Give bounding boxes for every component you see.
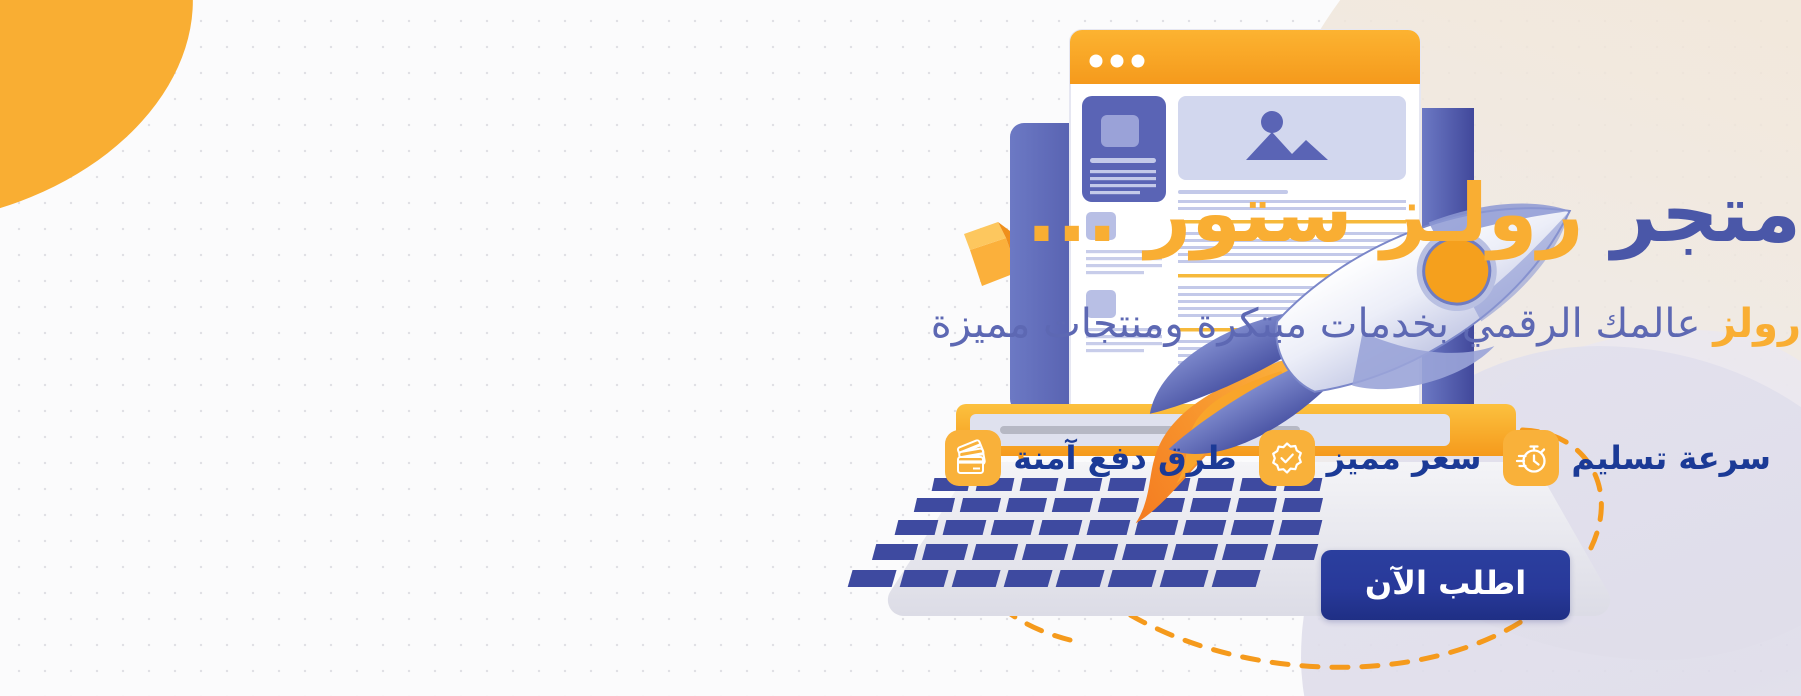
feature-label: سرعة تسليم xyxy=(1571,439,1771,477)
subheadline-text: عالمك الرقمي بخدمات مبتكرة ومنتجات مميزة xyxy=(931,301,1701,347)
feature-item-special-price: سعر مميز xyxy=(1259,430,1482,486)
banner-text-column: متجر رولـز ستور ... رولز عالمك الرقمي بخ… xyxy=(960,0,1801,696)
subheadline: رولز عالمك الرقمي بخدمات مبتكرة ومنتجات … xyxy=(960,298,1801,350)
stopwatch-icon xyxy=(1503,430,1559,486)
headline-brand: متجر xyxy=(1611,167,1801,260)
feature-item-secure-payment: طرق دفع آمنة xyxy=(945,430,1236,486)
subheadline-brand-word: رولز xyxy=(1713,301,1801,347)
feature-label: سعر مميز xyxy=(1327,439,1482,477)
feature-label: طرق دفع آمنة xyxy=(1013,439,1236,477)
credit-cards-icon xyxy=(945,430,1001,486)
feature-item-fast-delivery: سرعة تسليم xyxy=(1503,430,1771,486)
page-title: متجر رولـز ستور ... xyxy=(960,172,1801,256)
headline-store: رولـز ستور ... xyxy=(1026,167,1583,260)
cta-container: اطلب الآن xyxy=(960,550,1801,620)
promo-banner: متجر رولـز ستور ... رولز عالمك الرقمي بخ… xyxy=(0,0,1801,696)
order-now-button[interactable]: اطلب الآن xyxy=(1321,550,1570,620)
verified-badge-icon xyxy=(1259,430,1315,486)
features-list: سرعة تسليم سعر مميز xyxy=(960,430,1801,486)
